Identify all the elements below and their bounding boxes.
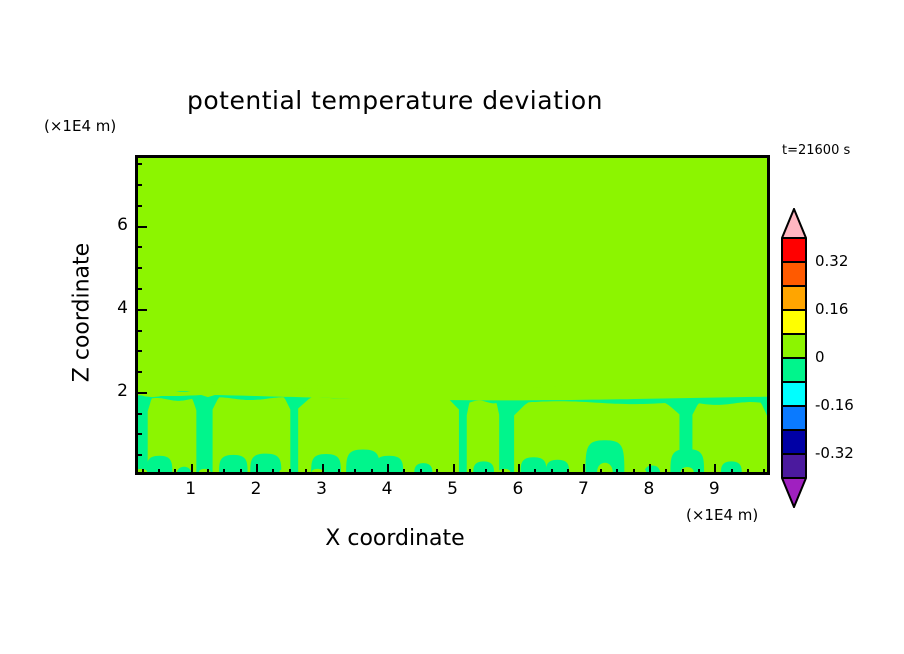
x-minor-tick bbox=[207, 469, 209, 475]
colorbar: 0.320.160-0.16-0.32 bbox=[781, 208, 807, 508]
y-major-tick bbox=[135, 392, 147, 394]
colorbar-band bbox=[781, 430, 807, 454]
x-minor-tick bbox=[371, 469, 373, 475]
x-major-tick bbox=[453, 464, 455, 475]
x-minor-tick bbox=[731, 469, 733, 475]
x-minor-tick bbox=[223, 469, 225, 475]
x-minor-tick bbox=[567, 469, 569, 475]
x-minor-tick bbox=[305, 469, 307, 475]
chart-page: potential temperature deviation (×1E4 m)… bbox=[0, 0, 904, 654]
x-minor-tick bbox=[633, 469, 635, 475]
contour-field bbox=[138, 158, 767, 472]
x-minor-tick bbox=[338, 469, 340, 475]
y-minor-tick bbox=[135, 413, 142, 415]
y-minor-tick bbox=[135, 288, 142, 290]
contour-plot-area bbox=[135, 155, 770, 475]
x-minor-tick bbox=[142, 469, 144, 475]
colorbar-band bbox=[781, 334, 807, 358]
colorbar-over-arrow bbox=[781, 208, 807, 238]
x-axis-title: X coordinate bbox=[0, 526, 790, 551]
x-tick-label: 1 bbox=[171, 479, 211, 499]
x-tick-label: 6 bbox=[498, 479, 538, 499]
y-minor-tick bbox=[135, 433, 142, 435]
x-minor-tick bbox=[272, 469, 274, 475]
x-tick-label: 7 bbox=[563, 479, 603, 499]
x-minor-tick bbox=[616, 469, 618, 475]
x-major-tick bbox=[322, 464, 324, 475]
colorbar-tick-label: 0.16 bbox=[815, 300, 848, 318]
colorbar-band bbox=[781, 262, 807, 286]
x-axis-unit-label: (×1E4 m) bbox=[686, 506, 758, 524]
x-minor-tick bbox=[763, 469, 765, 475]
y-minor-tick bbox=[135, 454, 142, 456]
colorbar-band bbox=[781, 310, 807, 334]
y-tick-label: 6 bbox=[88, 215, 128, 235]
x-tick-label: 5 bbox=[433, 479, 473, 499]
y-major-tick bbox=[135, 226, 147, 228]
x-minor-tick bbox=[469, 469, 471, 475]
x-tick-label: 3 bbox=[302, 479, 342, 499]
colorbar-tick-label: -0.16 bbox=[815, 396, 854, 414]
x-major-tick bbox=[518, 464, 520, 475]
x-major-tick bbox=[714, 464, 716, 475]
colorbar-band bbox=[781, 358, 807, 382]
colorbar-tick-label: -0.32 bbox=[815, 444, 854, 462]
x-minor-tick bbox=[403, 469, 405, 475]
x-minor-tick bbox=[534, 469, 536, 475]
x-major-tick bbox=[256, 464, 258, 475]
x-minor-tick bbox=[420, 469, 422, 475]
x-minor-tick bbox=[665, 469, 667, 475]
x-minor-tick bbox=[600, 469, 602, 475]
x-minor-tick bbox=[174, 469, 176, 475]
x-major-tick bbox=[583, 464, 585, 475]
colorbar-tick-label: 0.32 bbox=[815, 252, 848, 270]
chart-title: potential temperature deviation bbox=[0, 86, 790, 115]
y-minor-tick bbox=[135, 371, 142, 373]
y-minor-tick bbox=[135, 205, 142, 207]
colorbar-band bbox=[781, 286, 807, 310]
y-major-tick bbox=[135, 309, 147, 311]
x-major-tick bbox=[387, 464, 389, 475]
x-minor-tick bbox=[698, 469, 700, 475]
x-major-tick bbox=[649, 464, 651, 475]
x-minor-tick bbox=[436, 469, 438, 475]
colorbar-band bbox=[781, 382, 807, 406]
y-minor-tick bbox=[135, 267, 142, 269]
y-minor-tick bbox=[135, 246, 142, 248]
x-minor-tick bbox=[240, 469, 242, 475]
y-minor-tick bbox=[135, 184, 142, 186]
colorbar-band bbox=[781, 454, 807, 478]
y-tick-label: 4 bbox=[88, 298, 128, 318]
y-minor-tick bbox=[135, 163, 142, 165]
y-minor-tick bbox=[135, 330, 142, 332]
x-tick-label: 4 bbox=[367, 479, 407, 499]
colorbar-band bbox=[781, 406, 807, 430]
time-annotation: t=21600 s bbox=[782, 143, 850, 158]
x-minor-tick bbox=[354, 469, 356, 475]
x-minor-tick bbox=[747, 469, 749, 475]
x-tick-label: 9 bbox=[694, 479, 734, 499]
colorbar-tick-label: 0 bbox=[815, 348, 825, 366]
x-minor-tick bbox=[485, 469, 487, 475]
x-minor-tick bbox=[682, 469, 684, 475]
x-major-tick bbox=[191, 464, 193, 475]
x-minor-tick bbox=[551, 469, 553, 475]
x-minor-tick bbox=[502, 469, 504, 475]
y-axis-unit-label: (×1E4 m) bbox=[44, 117, 116, 135]
x-tick-label: 8 bbox=[629, 479, 669, 499]
y-minor-tick bbox=[135, 350, 142, 352]
colorbar-under-arrow bbox=[781, 478, 807, 508]
x-minor-tick bbox=[289, 469, 291, 475]
x-minor-tick bbox=[158, 469, 160, 475]
x-tick-label: 2 bbox=[236, 479, 276, 499]
colorbar-band bbox=[781, 238, 807, 262]
y-tick-label: 2 bbox=[88, 381, 128, 401]
